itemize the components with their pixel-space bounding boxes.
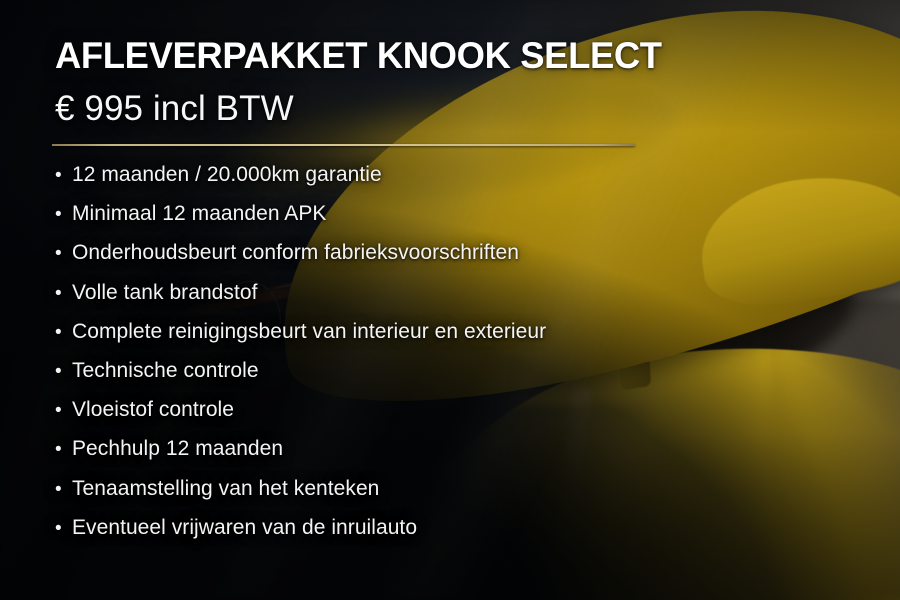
bullet-dot-icon: • [55, 244, 72, 263]
promo-slide: AFLEVERPAKKET KNOOK SELECT € 995 incl BT… [0, 0, 900, 600]
list-item: • Tenaamstelling van het kenteken [55, 477, 900, 516]
bullet-dot-icon: • [55, 480, 72, 499]
list-item-label: Volle tank brandstof [72, 281, 257, 305]
list-item-label: Eventueel vrijwaren van de inruilauto [72, 516, 417, 540]
list-item: • Technische controle [55, 359, 900, 398]
slide-content: AFLEVERPAKKET KNOOK SELECT € 995 incl BT… [0, 0, 900, 600]
list-item: • Volle tank brandstof [55, 281, 900, 320]
bullet-dot-icon: • [55, 440, 72, 459]
list-item: • Minimaal 12 maanden APK [55, 202, 900, 241]
list-item: • Pechhulp 12 maanden [55, 437, 900, 476]
list-item-label: 12 maanden / 20.000km garantie [72, 163, 382, 187]
list-item: • Complete reinigingsbeurt van interieur… [55, 320, 900, 359]
list-item: • Vloeistof controle [55, 398, 900, 437]
list-item-label: Technische controle [72, 359, 259, 383]
bullet-dot-icon: • [55, 166, 72, 185]
bullet-dot-icon: • [55, 519, 72, 538]
bullet-dot-icon: • [55, 401, 72, 420]
list-item-label: Tenaamstelling van het kenteken [72, 477, 379, 501]
list-item: • 12 maanden / 20.000km garantie [55, 163, 900, 202]
list-item: • Onderhoudsbeurt conform fabrieksvoorsc… [55, 241, 900, 280]
price-subtitle: € 995 incl BTW [55, 89, 900, 129]
divider [52, 144, 635, 146]
list-item: • Eventueel vrijwaren van de inruilauto [55, 516, 900, 555]
bullet-dot-icon: • [55, 362, 72, 381]
package-feature-list: • 12 maanden / 20.000km garantie • Minim… [55, 163, 900, 555]
list-item-label: Complete reinigingsbeurt van interieur e… [72, 320, 546, 344]
list-item-label: Vloeistof controle [72, 398, 234, 422]
bullet-dot-icon: • [55, 284, 72, 303]
page-title: AFLEVERPAKKET KNOOK SELECT [55, 34, 887, 78]
list-item-label: Pechhulp 12 maanden [72, 437, 283, 461]
list-item-label: Onderhoudsbeurt conform fabrieksvoorschr… [72, 241, 519, 265]
bullet-dot-icon: • [55, 323, 72, 342]
bullet-dot-icon: • [55, 205, 72, 224]
list-item-label: Minimaal 12 maanden APK [72, 202, 326, 226]
